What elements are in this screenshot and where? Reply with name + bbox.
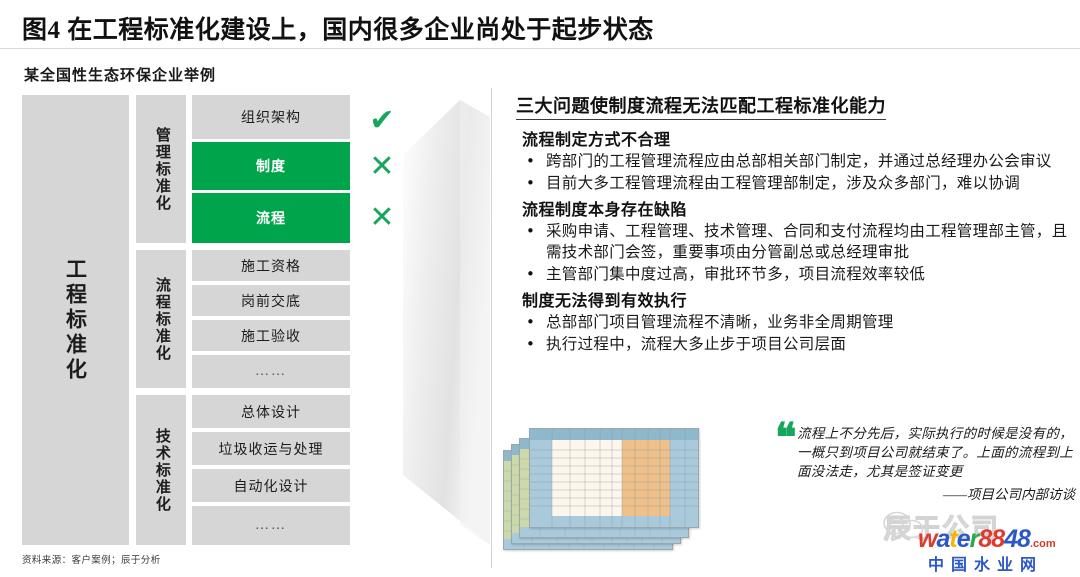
- logo-letter-a: a: [936, 525, 949, 553]
- hierarchy-item-box-ellipsis: ……: [192, 355, 350, 388]
- status-cross-icon: ✕: [364, 149, 400, 184]
- issue-bullet-item: • 总部部门项目管理流程不清晰，业务非全周期管理: [522, 312, 1076, 333]
- issue-bullet-text: 跨部门的工程管理流程应由总部相关部门制定，并通过总经理办公会审议: [546, 151, 1076, 172]
- item-label: 垃圾收运与处理: [219, 439, 324, 459]
- bullet-dot-icon: •: [522, 151, 546, 172]
- status-cross-icon: ✕: [364, 200, 400, 235]
- category-label: 流程标准化: [153, 277, 169, 362]
- item-label: 流程: [256, 208, 286, 228]
- logo-number-48: 48: [1004, 525, 1030, 553]
- watermark-chinese-text: 中国水业网: [928, 551, 1043, 575]
- hierarchy-item-box: 施工资格: [192, 250, 350, 281]
- hierarchy-root-label: 工程标准化: [64, 258, 86, 383]
- hierarchy-item-box-ellipsis: ……: [192, 506, 350, 545]
- item-label: 制度: [256, 156, 286, 176]
- item-label: 施工资格: [241, 256, 301, 276]
- funnel-connector-shape: [398, 95, 503, 545]
- hierarchy-item-box: 组织架构: [192, 95, 350, 139]
- item-label: 自动化设计: [234, 476, 309, 496]
- hierarchy-category-management: 管理标准化: [136, 95, 186, 243]
- issue-bullet-item: • 执行过程中，流程大多止步于项目公司层面: [522, 334, 1076, 355]
- issue-bullet-item: • 跨部门的工程管理流程应由总部相关部门制定，并通过总经理办公会审议: [522, 151, 1076, 172]
- quote-attribution: ——项目公司内部访谈: [797, 483, 1075, 503]
- logo-number-88: 88: [978, 525, 1004, 553]
- hierarchy-item-box: 岗前交底: [192, 285, 350, 316]
- issue-section-heading: 流程制定方式不合理: [522, 126, 1076, 150]
- chart-subtitle: 某全国性生态环保企业举例: [24, 64, 216, 85]
- issues-panel: 三大问题使制度流程无法匹配工程标准化能力 流程制定方式不合理 • 跨部门的工程管…: [516, 92, 1076, 356]
- issue-bullet-text: 总部部门项目管理流程不清晰，业务非全周期管理: [546, 312, 1076, 333]
- watermark-logo: water8848.com: [918, 525, 1056, 554]
- item-label: 组织架构: [241, 107, 301, 127]
- issues-panel-heading: 三大问题使制度流程无法匹配工程标准化能力: [516, 92, 886, 120]
- issue-bullet-item: • 主管部门集中度过高，审批环节多，项目流程效率较低: [522, 264, 1076, 285]
- title-divider: [0, 48, 1080, 49]
- issue-bullet-text: 执行过程中，流程大多止步于项目公司层面: [546, 334, 1076, 355]
- item-label: ……: [255, 364, 287, 380]
- quote-mark-icon: ❝: [775, 424, 797, 452]
- bullet-dot-icon: •: [522, 221, 546, 242]
- logo-dotcom: .com: [1030, 538, 1056, 550]
- spreadsheet-thumbnail: [529, 428, 699, 528]
- site-watermark: 辰于公司 water8848.com 中国水业网: [880, 505, 1080, 575]
- interview-quote-block: ❝ 流程上不分先后，实际执行的时候是没有的，一概只到项目公司就结束了。上面的流程…: [775, 424, 1075, 503]
- item-label: 岗前交底: [241, 291, 301, 311]
- hierarchy-category-process: 流程标准化: [136, 250, 186, 388]
- issue-section-heading: 制度无法得到有效执行: [522, 287, 1076, 311]
- spreadsheet-thumbnail-stack: [503, 428, 703, 553]
- source-note: 资料来源：客户案例；辰于分析: [22, 552, 161, 566]
- item-label: 施工验收: [241, 326, 301, 346]
- bullet-dot-icon: •: [522, 264, 546, 285]
- bullet-dot-icon: •: [522, 312, 546, 333]
- quote-text: 流程上不分先后，实际执行的时候是没有的，一概只到项目公司就结束了。上面的流程到上…: [797, 424, 1075, 481]
- issue-bullet-text: 采购申请、工程管理、技术管理、合同和支付流程均由工程管理部主管，且需技术部门会签…: [546, 221, 1076, 263]
- hierarchy-item-box-highlight: 制度: [192, 142, 350, 190]
- hierarchy-item-box: 自动化设计: [192, 469, 350, 502]
- bullet-dot-icon: •: [522, 334, 546, 355]
- item-label: ……: [255, 518, 287, 534]
- hierarchy-category-technology: 技术标准化: [136, 395, 186, 545]
- logo-letter-w: w: [918, 525, 936, 553]
- status-check-icon: ✔: [364, 103, 400, 138]
- standardization-hierarchy-diagram: 工程标准化 管理标准化 流程标准化 技术标准化 组织架构 制度 流程 施工资格 …: [22, 95, 392, 545]
- category-label: 技术标准化: [153, 428, 169, 513]
- panel-divider: [491, 88, 492, 568]
- issue-bullet-item: • 采购申请、工程管理、技术管理、合同和支付流程均由工程管理部主管，且需技术部门…: [522, 221, 1076, 263]
- issue-bullet-text: 主管部门集中度过高，审批环节多，项目流程效率较低: [546, 264, 1076, 285]
- issue-bullet-text: 目前大多工程管理流程由工程管理部制定，涉及众多部门，难以协调: [546, 173, 1076, 194]
- category-label: 管理标准化: [153, 127, 169, 212]
- logo-letter-t: t: [949, 525, 956, 553]
- hierarchy-item-box: 垃圾收运与处理: [192, 432, 350, 465]
- logo-letter-e: e: [957, 525, 970, 553]
- hierarchy-item-box-highlight: 流程: [192, 193, 350, 243]
- bullet-dot-icon: •: [522, 173, 546, 194]
- hierarchy-root-box: 工程标准化: [22, 95, 129, 545]
- hierarchy-item-box: 施工验收: [192, 320, 350, 351]
- hierarchy-item-box: 总体设计: [192, 395, 350, 428]
- issue-bullet-item: • 目前大多工程管理流程由工程管理部制定，涉及众多部门，难以协调: [522, 173, 1076, 194]
- page-title: 图4 在工程标准化建设上，国内很多企业尚处于起步状态: [22, 10, 654, 46]
- issue-section-heading: 流程制度本身存在缺陷: [522, 196, 1076, 220]
- item-label: 总体设计: [241, 402, 301, 422]
